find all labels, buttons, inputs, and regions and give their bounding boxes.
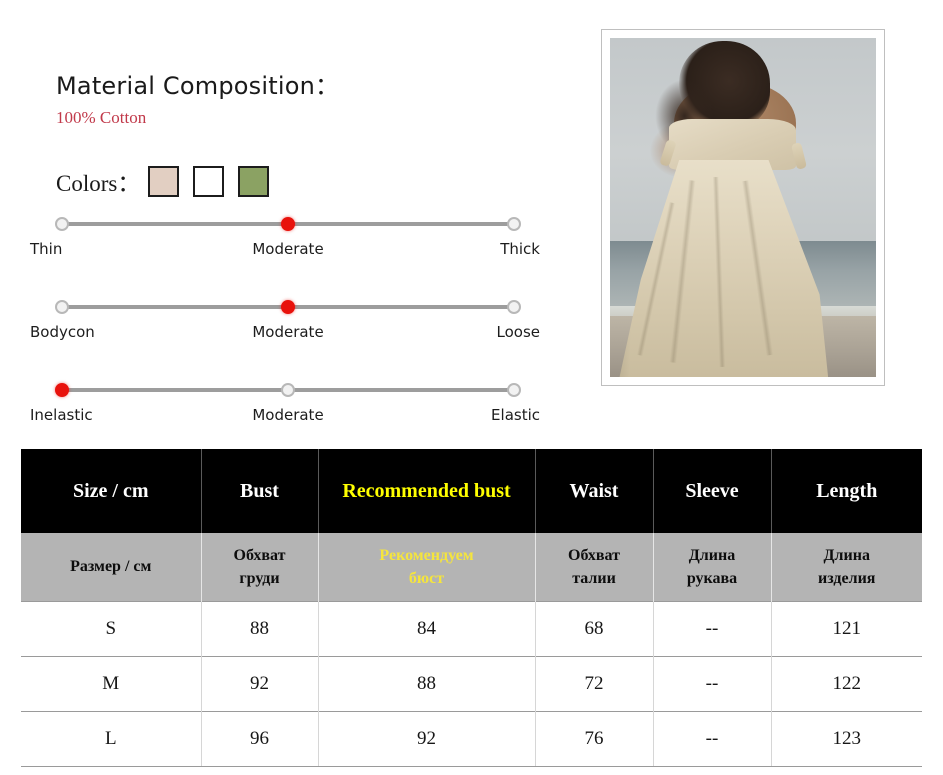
slider-thickness[interactable]: Thin Moderate Thick	[0, 204, 580, 276]
slider-fit-knob-bodycon[interactable]	[55, 300, 69, 314]
cell-bust: 96	[201, 712, 318, 767]
slider-fit-knob-loose[interactable]	[507, 300, 521, 314]
slider-thickness-track[interactable]	[62, 214, 514, 234]
cell-bust: 92	[201, 657, 318, 712]
slider-thickness-label-mid: Moderate	[252, 240, 323, 258]
cell-waist: 68	[535, 602, 653, 657]
cell-length: 122	[771, 657, 922, 712]
size-chart-table: Size / cm Bust Recommended bust Waist Sl…	[21, 449, 922, 767]
slider-fit-label-mid: Moderate	[252, 323, 323, 341]
slider-elasticity-track[interactable]	[62, 380, 514, 400]
slider-thickness-knob-thick[interactable]	[507, 217, 521, 231]
slider-fit-track[interactable]	[62, 297, 514, 317]
cell-sleeve: --	[653, 657, 771, 712]
cell-size: L	[21, 712, 201, 767]
col-header-size-ru: Размер / см	[21, 533, 201, 602]
slider-thickness-labels: Thin Moderate Thick	[0, 240, 580, 264]
cell-waist: 72	[535, 657, 653, 712]
slider-thickness-label-right: Thick	[500, 240, 540, 258]
slider-thickness-knob-thin[interactable]	[55, 217, 69, 231]
cell-waist: 76	[535, 712, 653, 767]
cell-recommended-bust: 92	[318, 712, 535, 767]
color-swatch-white[interactable]	[193, 166, 224, 197]
slider-elasticity[interactable]: Inelastic Moderate Elastic	[0, 370, 580, 442]
slider-fit-labels: Bodycon Moderate Loose	[0, 323, 580, 347]
col-header-recommended-bust-en: Recommended bust	[318, 449, 535, 533]
material-value: 100% Cotton	[56, 108, 146, 128]
col-header-sleeve-ru-text: Длинарукава	[654, 544, 771, 590]
slider-fit-knob-moderate[interactable]	[281, 300, 295, 314]
col-header-length-ru: Длинаизделия	[771, 533, 922, 602]
col-header-recommended-bust-ru-text: Рекомендуембюст	[319, 544, 535, 590]
colors-row: Colors：	[56, 162, 283, 200]
color-swatch-olive-green[interactable]	[238, 166, 269, 197]
col-header-bust-en: Bust	[201, 449, 318, 533]
colors-label: Colors：	[56, 164, 140, 198]
page-title: Material Composition：	[56, 66, 339, 101]
col-header-bust-ru-text: Обхватгруди	[202, 544, 318, 590]
product-info-panel: Material Composition： 100% Cotton Colors…	[0, 0, 580, 440]
col-header-sleeve-en: Sleeve	[653, 449, 771, 533]
slider-fit[interactable]: Bodycon Moderate Loose	[0, 287, 580, 359]
col-header-bust-ru: Обхватгруди	[201, 533, 318, 602]
col-header-waist-en: Waist	[535, 449, 653, 533]
cell-recommended-bust: 88	[318, 657, 535, 712]
cell-size: M	[21, 657, 201, 712]
col-header-size-en: Size / cm	[21, 449, 201, 533]
slider-elasticity-knob-inelastic[interactable]	[55, 383, 69, 397]
table-header-row-en: Size / cm Bust Recommended bust Waist Sl…	[21, 449, 922, 533]
cell-length: 121	[771, 602, 922, 657]
cell-sleeve: --	[653, 712, 771, 767]
cell-sleeve: --	[653, 602, 771, 657]
slider-fit-label-right: Loose	[497, 323, 541, 341]
slider-elasticity-label-mid: Moderate	[252, 406, 323, 424]
table-row: S 88 84 68 -- 121	[21, 602, 922, 657]
col-header-length-en: Length	[771, 449, 922, 533]
table-header-row-ru: Размер / см Обхватгруди Рекомендуембюст …	[21, 533, 922, 602]
cell-bust: 88	[201, 602, 318, 657]
table-row: L 96 92 76 -- 123	[21, 712, 922, 767]
col-header-waist-ru: Обхватталии	[535, 533, 653, 602]
col-header-size-ru-text: Размер / см	[21, 555, 201, 578]
product-photo-frame	[601, 29, 885, 386]
slider-fit-label-left: Bodycon	[30, 323, 95, 341]
product-photo	[610, 38, 876, 377]
col-header-waist-ru-text: Обхватталии	[536, 544, 653, 590]
slider-elasticity-label-left: Inelastic	[30, 406, 93, 424]
col-header-recommended-bust-ru: Рекомендуембюст	[318, 533, 535, 602]
slider-thickness-label-left: Thin	[30, 240, 62, 258]
slider-elasticity-labels: Inelastic Moderate Elastic	[0, 406, 580, 430]
slider-elasticity-label-right: Elastic	[491, 406, 540, 424]
col-header-sleeve-ru: Длинарукава	[653, 533, 771, 602]
slider-thickness-knob-moderate[interactable]	[281, 217, 295, 231]
slider-elasticity-knob-elastic[interactable]	[507, 383, 521, 397]
cell-recommended-bust: 84	[318, 602, 535, 657]
slider-elasticity-knob-moderate[interactable]	[281, 383, 295, 397]
cell-length: 123	[771, 712, 922, 767]
col-header-length-ru-text: Длинаизделия	[772, 544, 923, 590]
color-swatch-beige[interactable]	[148, 166, 179, 197]
table-row: M 92 88 72 -- 122	[21, 657, 922, 712]
cell-size: S	[21, 602, 201, 657]
